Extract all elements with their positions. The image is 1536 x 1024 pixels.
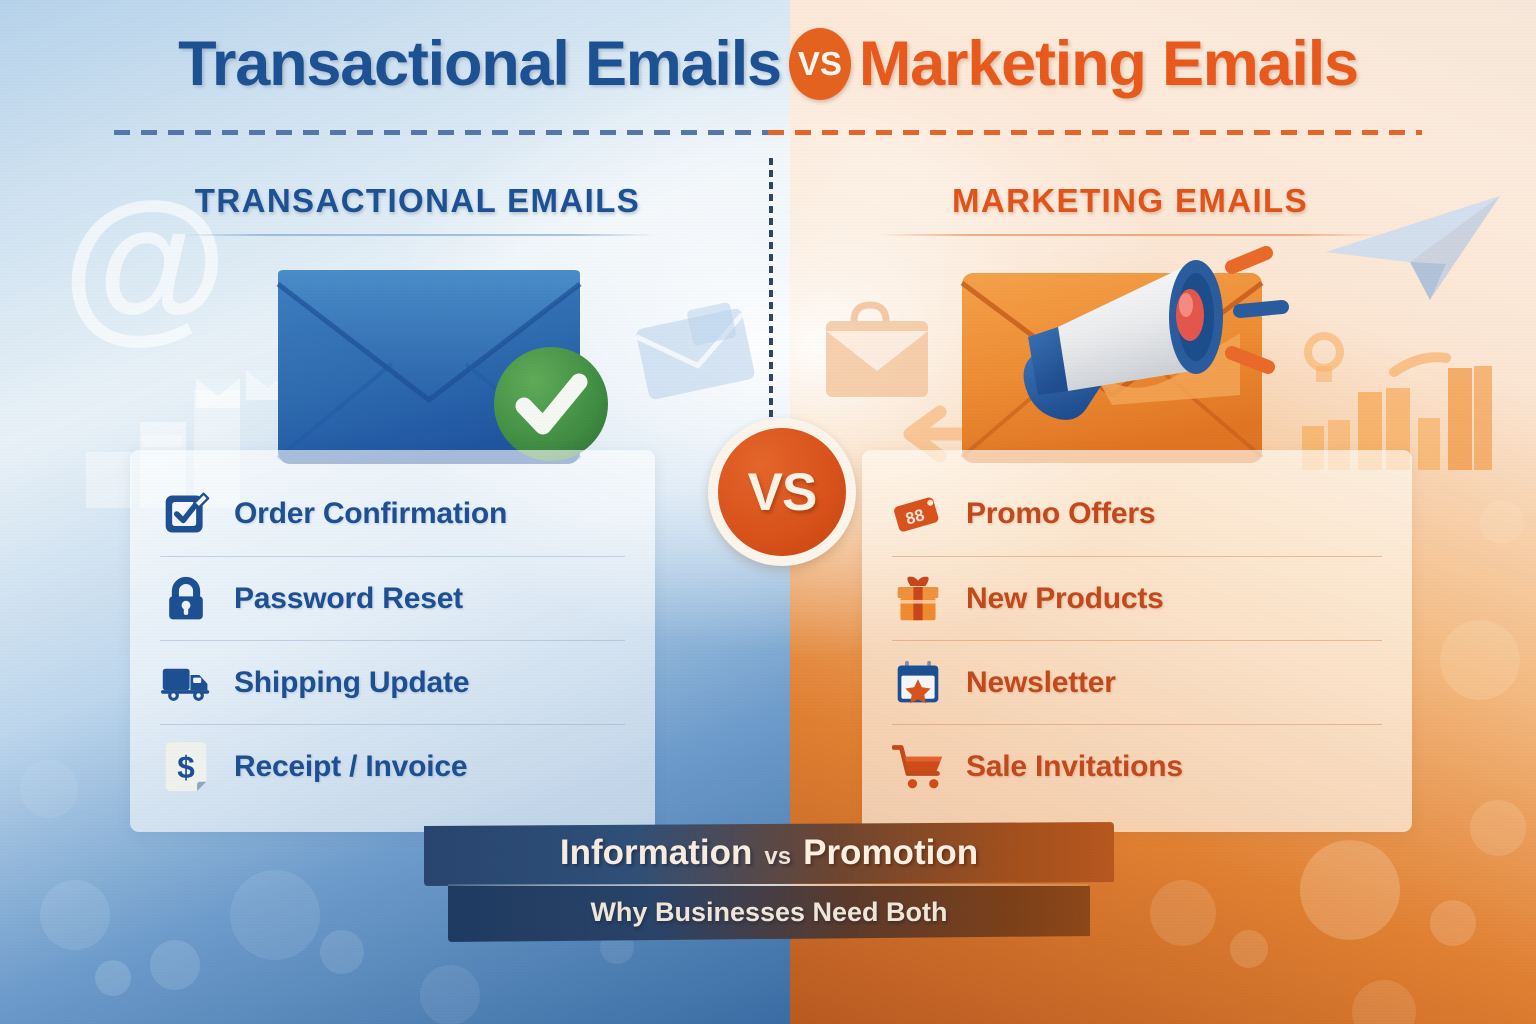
banner-separator-rule [448,884,1088,886]
calendar-star-icon [892,657,944,709]
lock-icon [160,573,212,625]
infographic-canvas: @ [0,0,1536,1024]
right-column-header-underline [880,234,1380,236]
list-item[interactable]: $ Receipt / Invoice [160,724,625,808]
price-tag-icon: 88 [892,488,944,540]
title-right-text: Marketing Emails [859,28,1358,100]
blue-envelope-with-green-check-icon [272,258,642,478]
left-column-heading-text: TRANSACTIONAL EMAILS [180,182,655,220]
banner-headline-ribbon: Information vs Promotion [424,822,1114,886]
banner-subtitle-ribbon: Why Businesses Need Both [448,886,1090,942]
banner-headline-left: Information [560,833,752,873]
svg-text:$: $ [177,750,194,785]
dollar-document-icon: $ [160,741,212,793]
title-left-text: Transactional Emails [178,28,781,100]
list-item[interactable]: Order Confirmation [160,472,625,556]
right-column-heading-text: MARKETING EMAILS [880,182,1380,220]
list-item-label: Newsletter [966,666,1116,700]
left-column-header-underline [180,234,655,236]
gift-box-icon [892,573,944,625]
list-item[interactable]: Sale Invitations [892,724,1382,808]
list-item-label: New Products [966,582,1164,616]
transactional-emails-card: Order Confirmation Password Reset [130,450,655,832]
title-vs-badge: VS [789,28,851,100]
center-vs-badge-label: VS [748,462,817,523]
list-item[interactable]: Password Reset [160,556,625,640]
list-item[interactable]: 88 Promo Offers [892,472,1382,556]
list-item-label: Promo Offers [966,497,1155,531]
list-item-label: Receipt / Invoice [234,750,467,784]
page-title: Transactional Emails VS Marketing Emails [0,28,1536,100]
title-divider-orange-segment [768,130,1422,135]
checked-box-pencil-icon [160,488,212,540]
banner-headline-vs: vs [764,843,791,871]
list-item-label: Password Reset [234,582,463,616]
list-item[interactable]: New Products [892,556,1382,640]
left-column-header: TRANSACTIONAL EMAILS [180,182,655,236]
list-item-label: Shipping Update [234,666,469,700]
right-column-header: MARKETING EMAILS [880,182,1380,236]
center-dashed-divider [769,158,773,458]
delivery-truck-icon [160,657,212,709]
transactional-emails-list: Order Confirmation Password Reset [160,472,625,808]
list-item-label: Sale Invitations [966,750,1183,784]
center-vs-badge-circle: VS [718,428,846,556]
marketing-emails-card: 88 Promo Offers Ne [862,450,1412,832]
orange-envelope-with-megaphone-icon [940,245,1320,470]
title-divider-blue-segment [114,130,768,135]
title-divider-rule [114,130,1422,135]
marketing-emails-list: 88 Promo Offers Ne [892,472,1382,808]
center-vs-badge: VS [708,418,856,566]
shopping-cart-icon [892,741,944,793]
list-item-label: Order Confirmation [234,497,507,531]
banner-subtitle-text: Why Businesses Need Both [590,897,947,928]
banner-headline-right: Promotion [803,833,978,873]
list-item[interactable]: Shipping Update [160,640,625,724]
list-item[interactable]: Newsletter [892,640,1382,724]
